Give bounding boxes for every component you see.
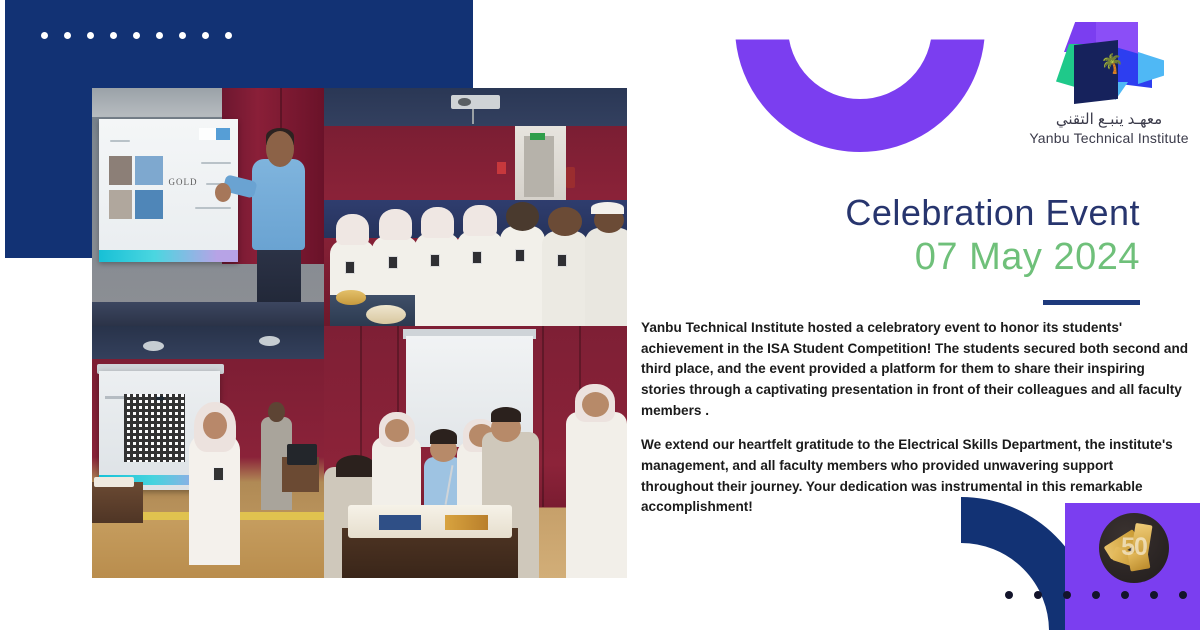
brand-name-arabic: معهـد ينبـع التقني (1018, 110, 1200, 128)
body-copy: Yanbu Technical Institute hosted a celeb… (641, 318, 1189, 532)
dot (1092, 591, 1100, 599)
saudi-palm-swords-emblem-icon: 🌴 (1100, 52, 1120, 78)
event-date: 07 May 2024 (640, 238, 1140, 278)
navy-dot-row (41, 32, 232, 39)
yanbu-technical-institute-logo-icon: 🌴 (1050, 22, 1168, 104)
badge-label: 50 (1099, 533, 1169, 562)
slide-gold-text: GOLD (169, 177, 198, 187)
bottom-dot-row (1005, 591, 1200, 599)
brand-logo: 🌴 معهـد ينبـع التقني Yanbu Technical Ins… (1018, 22, 1200, 158)
brand-name-english: Yanbu Technical Institute (1018, 130, 1200, 146)
photo-cake-cutting (324, 326, 627, 578)
photo-speaker-qr (92, 326, 324, 578)
dot (1179, 591, 1187, 599)
poster-canvas: 50 GOLD (0, 0, 1200, 630)
dot (156, 32, 163, 39)
dot (133, 32, 140, 39)
dot (1121, 591, 1129, 599)
dot (1034, 591, 1042, 599)
dot (202, 32, 209, 39)
dot (41, 32, 48, 39)
dot (179, 32, 186, 39)
body-paragraph-2: We extend our heartfelt gratitude to the… (641, 435, 1189, 518)
dot (87, 32, 94, 39)
dot (1063, 591, 1071, 599)
photo-collage: GOLD (92, 88, 627, 578)
dot (64, 32, 71, 39)
dot (1150, 591, 1158, 599)
purple-arc-decor (735, 0, 985, 152)
page-title: Celebration Event (640, 194, 1140, 232)
body-paragraph-1: Yanbu Technical Institute hosted a celeb… (641, 318, 1189, 421)
photo-audience (324, 88, 627, 326)
dot (110, 32, 117, 39)
photo-presenter-screen: GOLD (92, 88, 324, 326)
dot (225, 32, 232, 39)
dot (1005, 591, 1013, 599)
title-accent-bar (1043, 300, 1140, 305)
